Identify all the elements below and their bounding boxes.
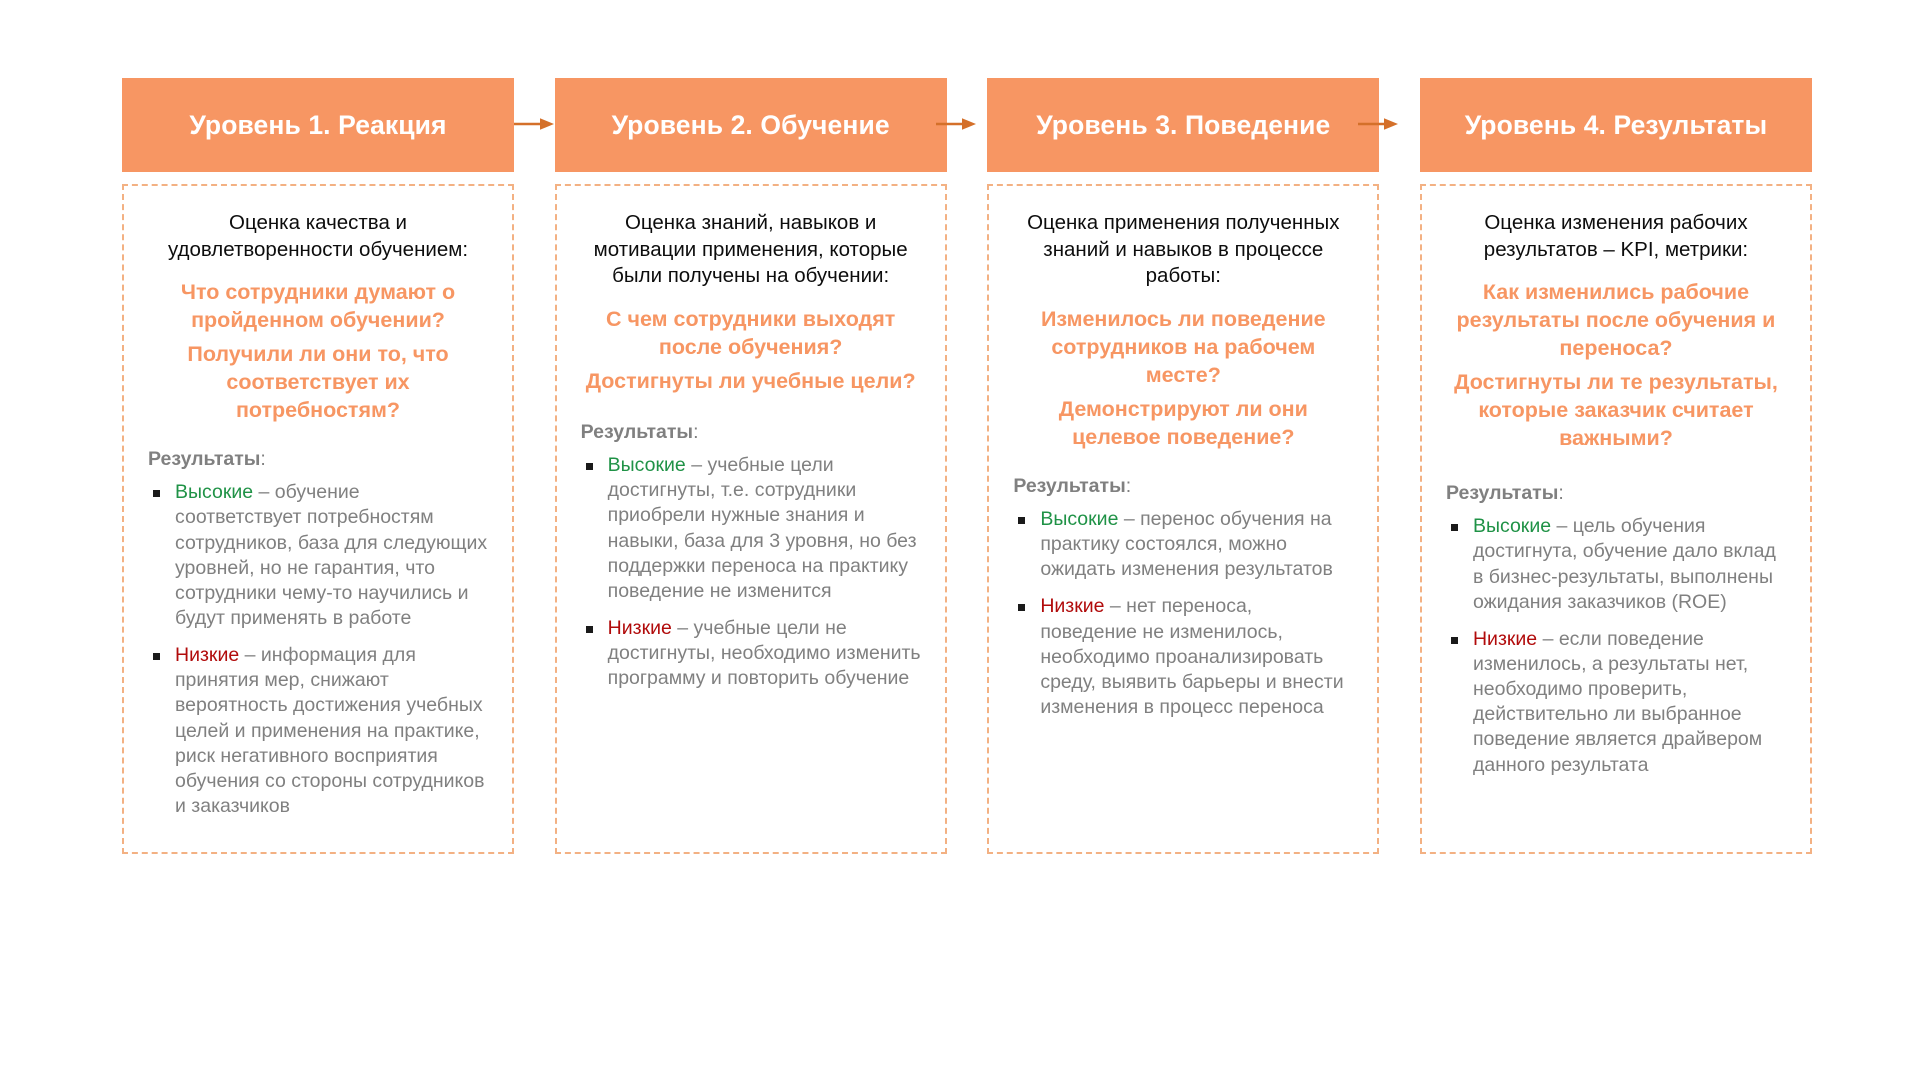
level-4-questions: Как изменились рабочие результаты после … (1446, 279, 1786, 453)
results-colon: : (1126, 475, 1131, 497)
bullet-square-icon (1451, 637, 1458, 644)
level-4-question-2: Достигнуты ли те результаты, которые зак… (1446, 369, 1786, 453)
level-3-results-label: Результаты: (1013, 474, 1353, 499)
level-2-intro: Оценка знаний, навыков и мотивации приме… (581, 210, 921, 290)
level-4-intro: Оценка изменения рабочих результатов – K… (1446, 210, 1786, 263)
bullet-square-icon (153, 653, 160, 660)
list-item: Низкие – учебные цели не достигнуты, нео… (581, 616, 921, 691)
level-column-3: Уровень 3. Поведение Оценка применения п… (987, 78, 1379, 854)
bullet-square-icon (153, 490, 160, 497)
bullet-level-label: Высокие (175, 481, 253, 503)
list-item: Высокие – цель обучения достигнута, обуч… (1446, 514, 1786, 615)
bullet-square-icon (1018, 517, 1025, 524)
results-word: Результаты (1013, 475, 1125, 497)
level-2-bullets: Высокие – учебные цели достигнуты, т.е. … (581, 453, 921, 691)
level-2-question-1: С чем сотрудники выходят после обучения? (581, 306, 921, 362)
level-1-bullets: Высокие – обучение соответствует потребн… (148, 480, 488, 819)
bullet-level-label: Низкие (608, 617, 672, 639)
bullet-level-label: Низкие (1473, 628, 1537, 650)
level-1-question-2: Получили ли они то, что соответствует их… (148, 341, 488, 425)
results-colon: : (693, 421, 698, 443)
level-1-questions: Что сотрудники думают о пройденном обуче… (148, 279, 488, 425)
list-item: Низкие – информация для принятия мер, сн… (148, 643, 488, 819)
bullet-level-label: Высокие (1040, 508, 1118, 530)
diagram-canvas: Уровень 1. Реакция Оценка качества и удо… (0, 0, 1920, 1080)
results-word: Результаты (148, 448, 260, 470)
bullet-text: – обучение соответствует потребностям со… (175, 481, 487, 629)
level-1-body: Оценка качества и удовлетворенности обуч… (122, 184, 514, 854)
bullet-level-label: Низкие (175, 644, 239, 666)
list-item: Высокие – учебные цели достигнуты, т.е. … (581, 453, 921, 604)
level-1-question-1: Что сотрудники думают о пройденном обуче… (148, 279, 488, 335)
level-4-question-1: Как изменились рабочие результаты после … (1446, 279, 1786, 363)
level-1-results-label: Результаты: (148, 447, 488, 472)
list-item: Низкие – нет переноса, поведение не изме… (1013, 594, 1353, 720)
level-3-header[interactable]: Уровень 3. Поведение (987, 78, 1379, 172)
level-3-bullets: Высокие – перенос обучения на практику с… (1013, 507, 1353, 720)
bullet-square-icon (586, 463, 593, 470)
bullet-level-label: Высокие (608, 454, 686, 476)
level-2-results-label: Результаты: (581, 420, 921, 445)
level-column-2: Уровень 2. Обучение Оценка знаний, навык… (555, 78, 947, 854)
bullet-square-icon (1018, 604, 1025, 611)
bullet-square-icon (586, 626, 593, 633)
level-3-question-2: Демонстрируют ли они целевое поведение? (1013, 396, 1353, 452)
level-4-header-label: Уровень 4. Результаты (1465, 110, 1768, 140)
level-2-header[interactable]: Уровень 2. Обучение (555, 78, 947, 172)
level-2-header-label: Уровень 2. Обучение (612, 110, 890, 140)
bullet-level-label: Низкие (1040, 595, 1104, 617)
bullet-text: – учебные цели достигнуты, т.е. сотрудни… (608, 454, 917, 602)
level-3-body: Оценка применения полученных знаний и на… (987, 184, 1379, 854)
results-colon: : (1558, 482, 1563, 504)
level-3-question-1: Изменилось ли поведение сотрудников на р… (1013, 306, 1353, 390)
levels-row: Уровень 1. Реакция Оценка качества и удо… (122, 78, 1812, 1008)
bullet-level-label: Высокие (1473, 515, 1551, 537)
level-3-questions: Изменилось ли поведение сотрудников на р… (1013, 306, 1353, 452)
level-2-body: Оценка знаний, навыков и мотивации приме… (555, 184, 947, 854)
level-4-results-label: Результаты: (1446, 481, 1786, 506)
results-word: Результаты (1446, 482, 1558, 504)
level-column-1: Уровень 1. Реакция Оценка качества и удо… (122, 78, 514, 854)
level-column-4: Уровень 4. Результаты Оценка изменения р… (1420, 78, 1812, 854)
bullet-text: – информация для принятия мер, снижают в… (175, 644, 484, 817)
level-1-intro: Оценка качества и удовлетворенности обуч… (148, 210, 488, 263)
results-colon: : (260, 448, 265, 470)
results-word: Результаты (581, 421, 693, 443)
level-4-body: Оценка изменения рабочих результатов – K… (1420, 184, 1812, 854)
list-item: Низкие – если поведение изменилось, а ре… (1446, 627, 1786, 778)
level-2-question-2: Достигнуты ли учебные цели? (581, 368, 921, 396)
level-3-intro: Оценка применения полученных знаний и на… (1013, 210, 1353, 290)
list-item: Высокие – обучение соответствует потребн… (148, 480, 488, 631)
level-2-questions: С чем сотрудники выходят после обучения?… (581, 306, 921, 396)
list-item: Высокие – перенос обучения на практику с… (1013, 507, 1353, 582)
level-4-bullets: Высокие – цель обучения достигнута, обуч… (1446, 514, 1786, 777)
level-3-header-label: Уровень 3. Поведение (1036, 110, 1330, 140)
level-1-header[interactable]: Уровень 1. Реакция (122, 78, 514, 172)
level-4-header[interactable]: Уровень 4. Результаты (1420, 78, 1812, 172)
bullet-square-icon (1451, 524, 1458, 531)
level-1-header-label: Уровень 1. Реакция (189, 110, 446, 140)
